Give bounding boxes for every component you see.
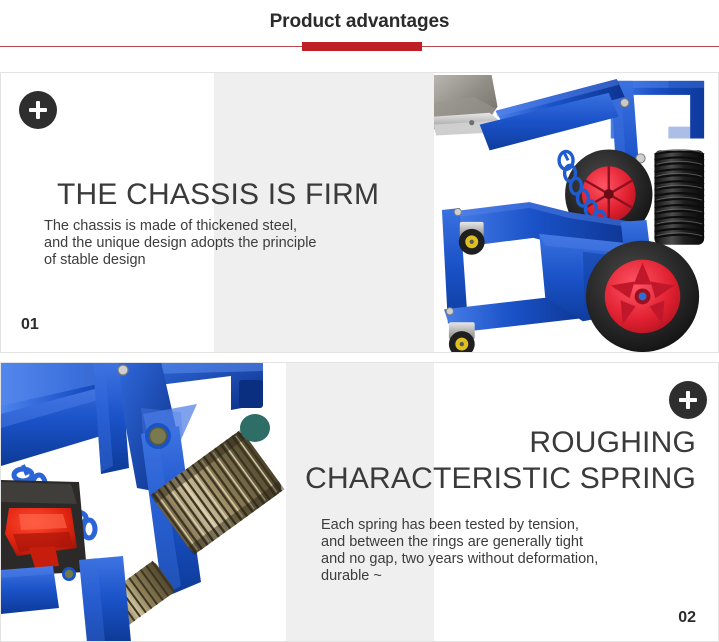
plus-icon[interactable] xyxy=(19,91,57,129)
header-accent-bar xyxy=(302,42,422,51)
page-header: Product advantages xyxy=(0,0,719,55)
chassis-illustration xyxy=(434,73,718,352)
card-description: Each spring has been tested by tension, … xyxy=(321,517,711,585)
card-gray-panel xyxy=(286,363,434,641)
card-title: THE CHASSIS IS FIRM xyxy=(57,177,379,213)
card-number-badge: 01 xyxy=(21,316,39,334)
advantage-card-01[interactable]: THE CHASSIS IS FIRM The chassis is made … xyxy=(0,72,719,353)
advantage-card-02[interactable]: ROUGHING CHARACTERISTIC SPRING Each spri… xyxy=(0,362,719,642)
page-title: Product advantages xyxy=(0,11,719,33)
card-description: The chassis is made of thickened steel, … xyxy=(44,218,424,269)
card-number-badge: 02 xyxy=(678,609,696,627)
plus-icon[interactable] xyxy=(669,381,707,419)
card-title: ROUGHING CHARACTERISTIC SPRING xyxy=(305,425,696,497)
spring-illustration xyxy=(1,363,286,641)
product-photo-spring xyxy=(1,363,286,641)
product-photo-chassis xyxy=(434,73,718,352)
